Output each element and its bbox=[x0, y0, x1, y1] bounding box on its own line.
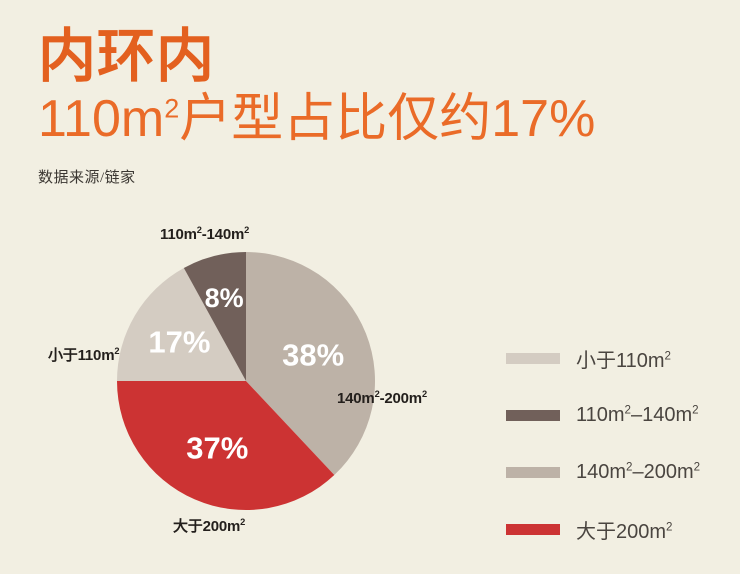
pie-slice-value-over-200: 37% bbox=[186, 430, 248, 465]
legend-label-3-prefix: 大于200m bbox=[576, 521, 666, 543]
callout-bottom-sup1: 2 bbox=[240, 517, 245, 527]
legend-label-140-200: 140m2–200m2 bbox=[576, 461, 700, 484]
legend-label-1-prefix: 110m bbox=[576, 404, 625, 426]
callout-left-prefix: 小于110m bbox=[48, 347, 114, 364]
legend-label-110-140: 110m2–140m2 bbox=[576, 404, 699, 427]
page-title-sub-rest: 户型占比仅约17% bbox=[179, 90, 595, 148]
page-title-main: 内环内 bbox=[38, 26, 698, 88]
pie-slice-value-110-140: 8% bbox=[205, 283, 244, 313]
callout-right-prefix: 140m bbox=[337, 390, 375, 407]
legend-label-0-prefix: 小于110m bbox=[576, 350, 665, 372]
legend-label-over-200: 大于200m2 bbox=[576, 515, 672, 544]
legend-label-3-sup1: 2 bbox=[666, 520, 672, 533]
page-title-sub-prefix: 110m bbox=[38, 90, 164, 148]
callout-label-110-140: 110m2-140m2 bbox=[160, 226, 249, 243]
legend-item-under-110[interactable]: 小于110m2 bbox=[506, 330, 726, 387]
legend-label-0-sup1: 2 bbox=[665, 349, 671, 362]
legend: 小于110m2 110m2–140m2 140m2–200m2 大于200m2 bbox=[506, 330, 726, 558]
legend-label-2-mid: –200m bbox=[632, 461, 693, 483]
legend-item-over-200[interactable]: 大于200m2 bbox=[506, 501, 726, 558]
callout-right-sup2: 2 bbox=[422, 389, 427, 399]
pie-slice-value-under-110: 17% bbox=[148, 325, 210, 360]
legend-swatch-icon bbox=[506, 353, 560, 364]
callout-top-mid: -140m bbox=[202, 226, 244, 243]
callout-label-over-200: 大于200m2 bbox=[173, 515, 245, 536]
legend-swatch-icon bbox=[506, 524, 560, 535]
callout-label-140-200: 140m2-200m2 bbox=[337, 390, 427, 407]
callout-left-sup1: 2 bbox=[114, 346, 119, 356]
header: 内环内 110m2户型占比仅约17% 数据来源/链家 bbox=[38, 26, 698, 187]
legend-label-1-sup2: 2 bbox=[692, 403, 698, 416]
data-source-note: 数据来源/链家 bbox=[38, 166, 698, 187]
legend-label-under-110: 小于110m2 bbox=[576, 344, 671, 373]
legend-item-110-140[interactable]: 110m2–140m2 bbox=[506, 387, 726, 444]
callout-top-sup2: 2 bbox=[244, 225, 249, 235]
page-title-sub: 110m2户型占比仅约17% bbox=[38, 90, 698, 148]
legend-label-2-prefix: 140m bbox=[576, 461, 626, 483]
callout-bottom-prefix: 大于200m bbox=[173, 518, 240, 535]
infographic-page: 内环内 110m2户型占比仅约17% 数据来源/链家 38% 37% 17% 8… bbox=[0, 0, 740, 574]
page-title-sub-superscript: 2 bbox=[164, 94, 179, 124]
callout-right-mid: -200m bbox=[380, 390, 422, 407]
legend-item-140-200[interactable]: 140m2–200m2 bbox=[506, 444, 726, 501]
callout-label-under-110: 小于110m2 bbox=[48, 344, 119, 365]
legend-swatch-icon bbox=[506, 410, 560, 421]
legend-swatch-icon bbox=[506, 467, 560, 478]
legend-label-2-sup2: 2 bbox=[694, 460, 700, 473]
legend-label-1-mid: –140m bbox=[631, 404, 692, 426]
callout-top-prefix: 110m bbox=[160, 226, 197, 243]
pie-slice-value-140-200: 38% bbox=[282, 337, 344, 372]
